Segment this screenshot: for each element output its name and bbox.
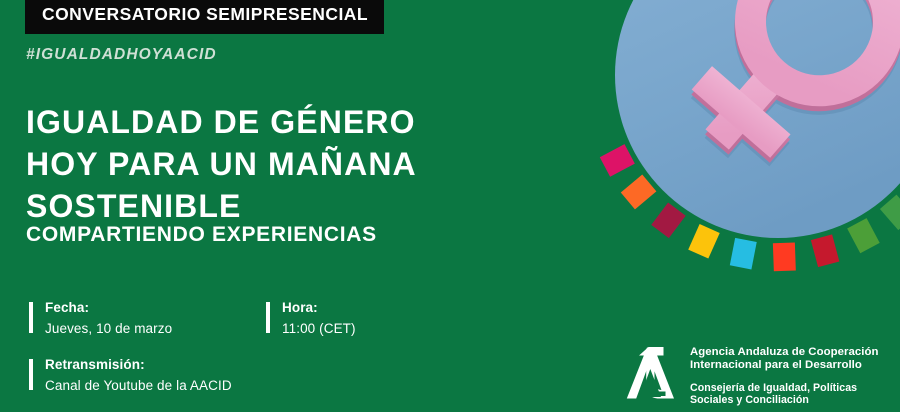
- accent-bar-icon: [29, 359, 33, 390]
- page-title-line-2: HOY PARA UN MAÑANA: [26, 144, 496, 186]
- detail-label: Hora:: [282, 301, 356, 315]
- agency-name-line-1: Agencia Andaluza de Cooperación: [690, 346, 878, 359]
- event-format-label: CONVERSATORIO SEMIPRESENCIAL: [42, 6, 368, 24]
- detail-item-retransmision: Retransmisión: Canal de Youtube de la AA…: [29, 358, 232, 392]
- andalucia-a-logo-icon: [618, 342, 680, 404]
- department-name: Consejería de Igualdad, Políticas Social…: [690, 382, 878, 407]
- page-subtitle: COMPARTIENDO EXPERIENCIAS: [26, 224, 377, 245]
- event-format-banner: CONVERSATORIO SEMIPRESENCIAL: [25, 0, 384, 34]
- department-name-line-2: Sociales y Conciliación: [690, 394, 878, 406]
- page-title-line-1: IGUALDAD DE GÉNERO: [26, 102, 496, 144]
- agency-logo-lockup: Agencia Andaluza de Cooperación Internac…: [618, 341, 878, 406]
- accent-bar-icon: [266, 302, 270, 333]
- detail-value: 11:00 (CET): [282, 322, 356, 336]
- detail-label: Fecha:: [45, 301, 172, 315]
- page-title-line-3: SOSTENIBLE: [26, 186, 496, 228]
- detail-item-fecha: Fecha: Jueves, 10 de marzo: [29, 301, 172, 335]
- event-poster: CONVERSATORIO SEMIPRESENCIAL #IGUALDADHO…: [0, 0, 900, 412]
- department-name-line-1: Consejería de Igualdad, Políticas: [690, 382, 878, 394]
- detail-label: Retransmisión:: [45, 358, 232, 372]
- agency-name: Agencia Andaluza de Cooperación Internac…: [690, 346, 878, 373]
- page-title: IGUALDAD DE GÉNERO HOY PARA UN MAÑANA SO…: [26, 102, 496, 228]
- artwork-panel: [530, 0, 900, 340]
- detail-value: Canal de Youtube de la AACID: [45, 379, 232, 393]
- accent-bar-icon: [29, 302, 33, 333]
- agency-name-line-2: Internacional para el Desarrollo: [690, 359, 878, 372]
- detail-value: Jueves, 10 de marzo: [45, 322, 172, 336]
- event-hashtag: #IGUALDADHOYAACID: [26, 47, 217, 63]
- detail-item-hora: Hora: 11:00 (CET): [266, 301, 356, 335]
